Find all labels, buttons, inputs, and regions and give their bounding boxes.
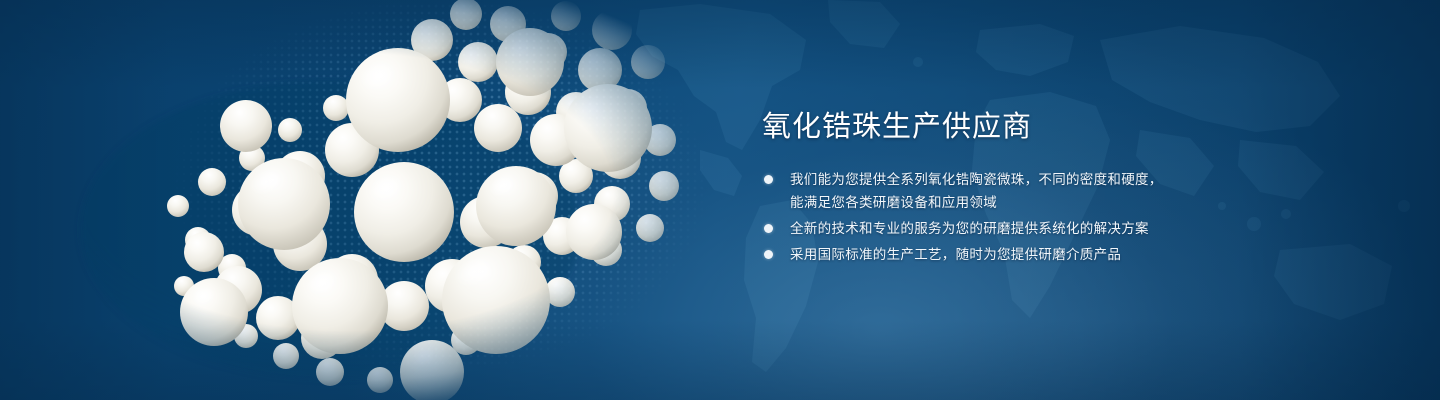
bullet-dot-icon — [764, 175, 773, 184]
banner-headline: 氧化锆珠生产供应商 — [762, 108, 1232, 146]
banner-copy: 氧化锆珠生产供应商 我们能为您提供全系列氧化锆陶瓷微珠，不同的密度和硬度， 能满… — [762, 108, 1232, 269]
zirconia-beads-image — [0, 0, 760, 400]
bullet-dot-icon — [764, 224, 773, 233]
list-item: 我们能为您提供全系列氧化锆陶瓷微珠，不同的密度和硬度， 能满足您各类研磨设备和应… — [762, 168, 1232, 214]
bullet-dot-icon — [764, 250, 773, 259]
list-item: 全新的技术和专业的服务为您的研磨提供系统化的解决方案 — [762, 217, 1232, 240]
benefits-list: 我们能为您提供全系列氧化锆陶瓷微珠，不同的密度和硬度， 能满足您各类研磨设备和应… — [762, 168, 1232, 266]
hero-banner: 氧化锆珠生产供应商 我们能为您提供全系列氧化锆陶瓷微珠，不同的密度和硬度， 能满… — [0, 0, 1440, 400]
bullet-line: 全新的技术和专业的服务为您的研磨提供系统化的解决方案 — [790, 217, 1232, 240]
bullet-line: 能满足您各类研磨设备和应用领域 — [790, 191, 1232, 214]
bullet-line: 我们能为您提供全系列氧化锆陶瓷微珠，不同的密度和硬度， — [790, 168, 1232, 191]
list-item: 采用国际标准的生产工艺，随时为您提供研磨介质产品 — [762, 243, 1232, 266]
bullet-line: 采用国际标准的生产工艺，随时为您提供研磨介质产品 — [790, 243, 1232, 266]
